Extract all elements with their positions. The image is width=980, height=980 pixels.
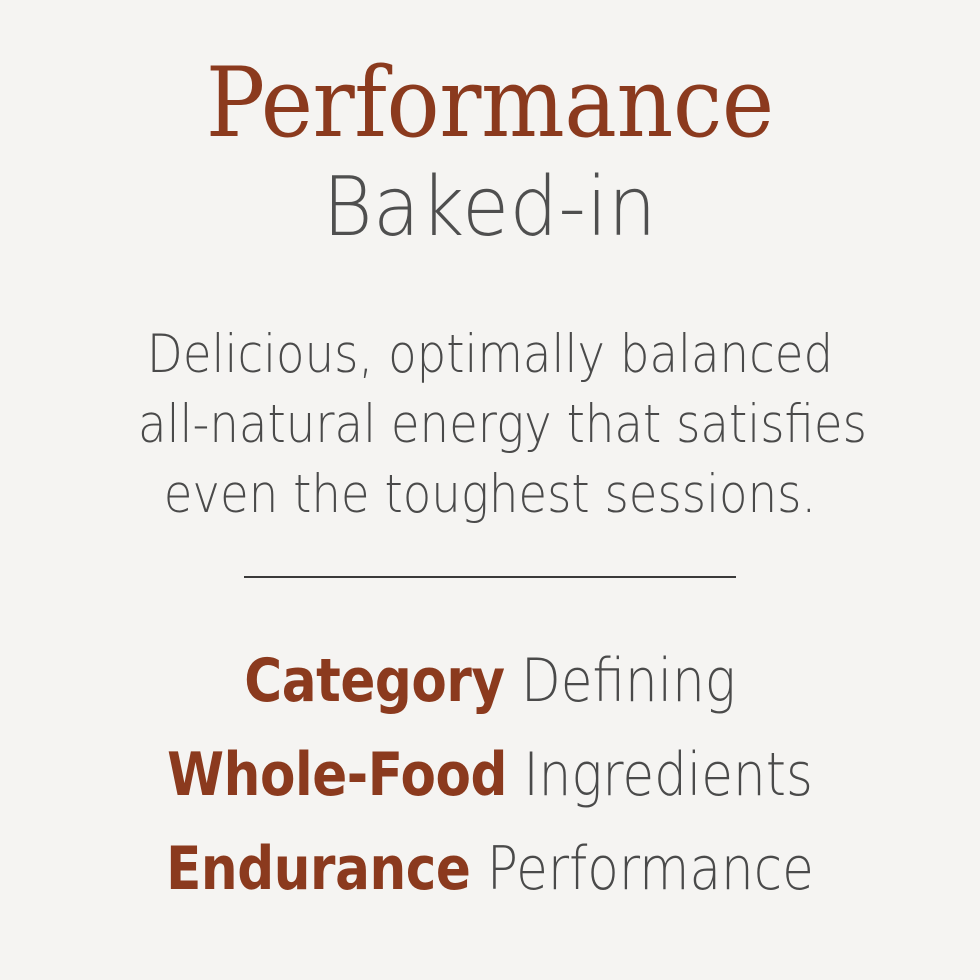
feature-list: Category Defining Whole-Food Ingredients… bbox=[0, 634, 980, 916]
feature-strong-label: Endurance bbox=[166, 834, 470, 904]
body-line: even the toughest sessions. bbox=[138, 460, 842, 530]
body-copy: Delicious, optimally balanced all-natura… bbox=[90, 320, 890, 530]
body-line: Delicious, optimally balanced bbox=[138, 320, 842, 390]
feature-plain-label: Performance bbox=[487, 834, 814, 904]
feature-plain-label bbox=[505, 646, 521, 716]
feature-plain-label bbox=[470, 834, 486, 904]
feature-plain-label: Defining bbox=[521, 646, 736, 716]
feature-strong-label: Category bbox=[244, 646, 504, 716]
feature-strong-label: Whole-Food bbox=[167, 740, 507, 810]
feature-plain-label bbox=[507, 740, 523, 810]
divider-wrap bbox=[0, 576, 980, 578]
section-divider bbox=[244, 576, 736, 578]
body-line: all-natural energy that satisfies bbox=[138, 390, 842, 460]
feature-plain-label: Ingredients bbox=[523, 740, 812, 810]
headline-secondary: Baked-in bbox=[203, 162, 777, 254]
feature-row: Endurance Performance bbox=[69, 822, 912, 916]
promo-card: Performance Baked-in Delicious, optimall… bbox=[0, 0, 980, 980]
feature-row: Whole-Food Ingredients bbox=[69, 728, 912, 822]
headline-primary: Performance bbox=[206, 52, 774, 156]
feature-row: Category Defining bbox=[69, 634, 912, 728]
headline-block: Performance Baked-in bbox=[181, 52, 798, 254]
